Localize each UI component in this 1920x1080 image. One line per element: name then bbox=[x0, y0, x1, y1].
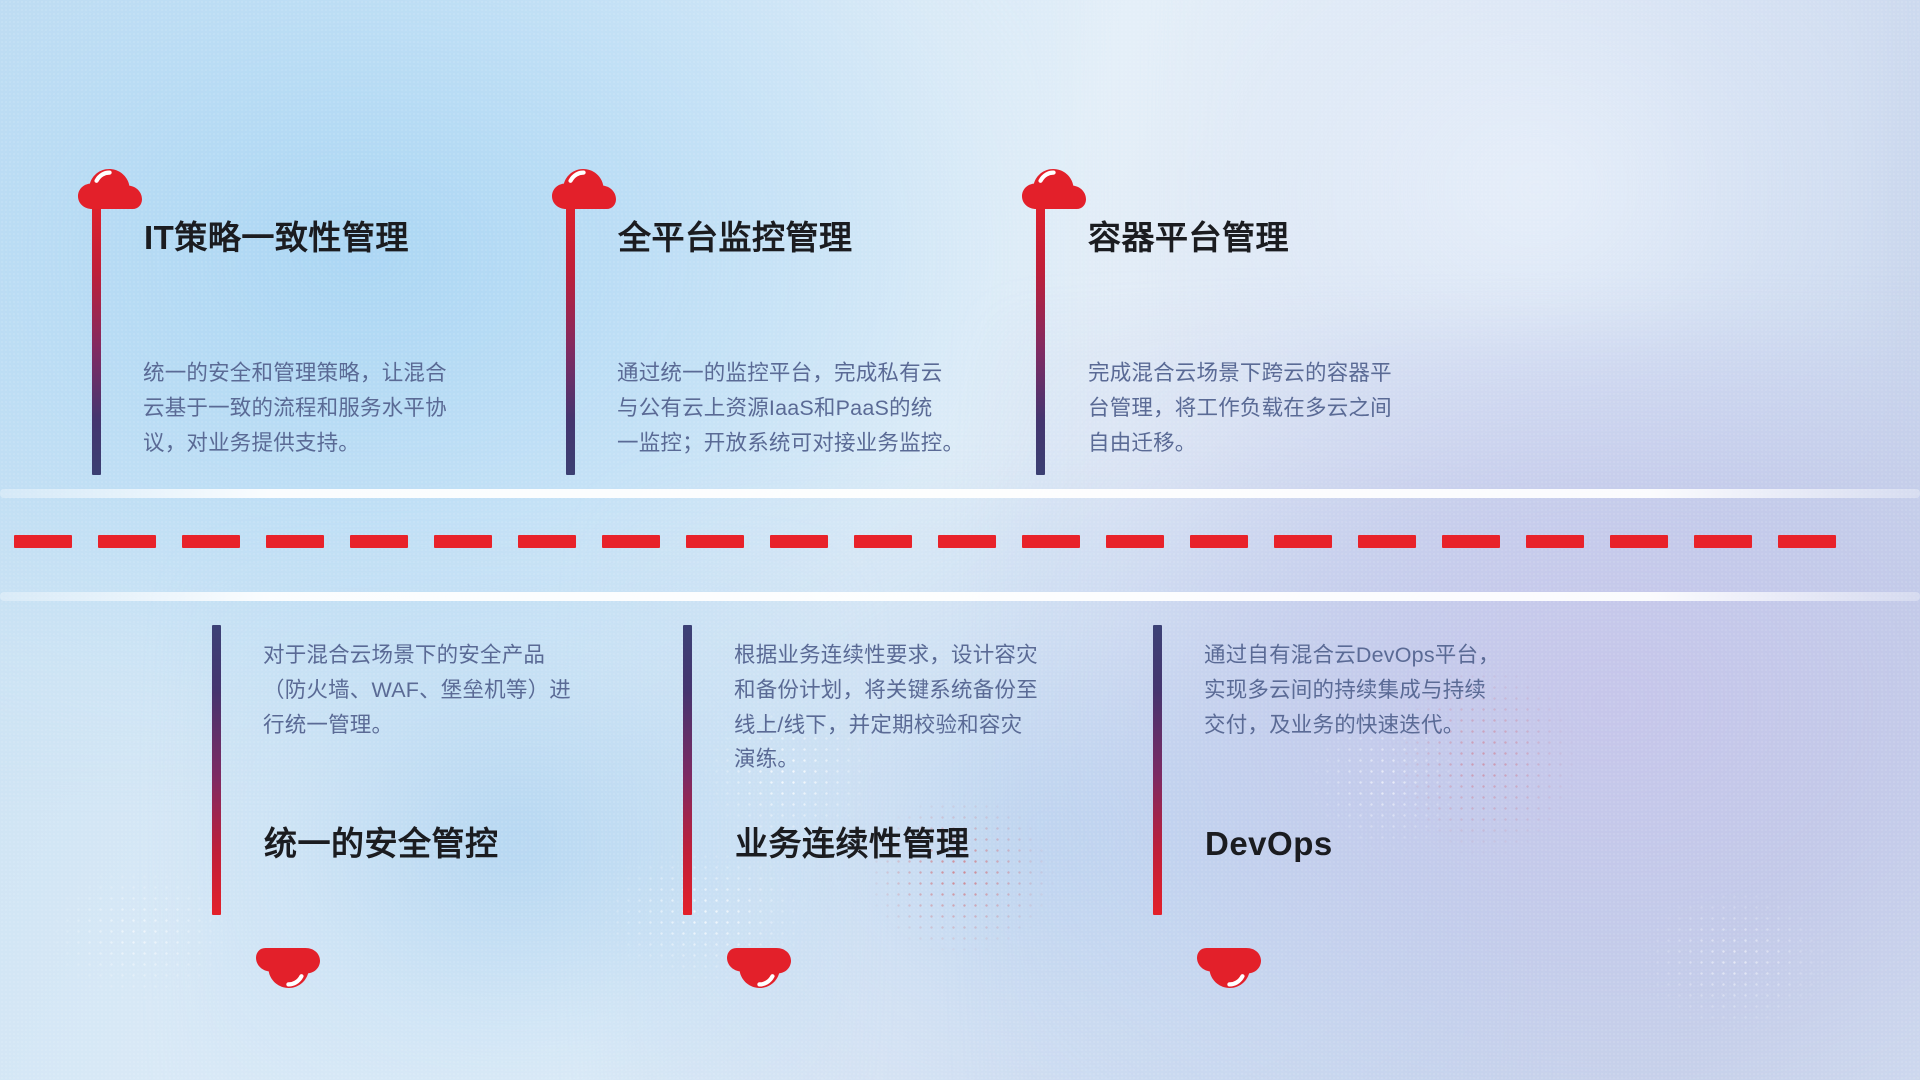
column-stem-unified-security-governance bbox=[212, 625, 221, 915]
divider-dash bbox=[266, 535, 324, 548]
column-stem-business-continuity-management bbox=[683, 625, 692, 915]
divider-dash bbox=[1442, 535, 1500, 548]
column-title-unified-security-governance: 统一的安全管控 bbox=[264, 826, 499, 862]
divider-dash bbox=[1610, 535, 1668, 548]
divider-dash bbox=[1022, 535, 1080, 548]
column-stem-container-platform-management bbox=[1036, 197, 1045, 475]
column-description-business-continuity-management: 根据业务连续性要求，设计容灾 和备份计划，将关键系统备份至 线上/线下，并定期校… bbox=[734, 638, 1114, 777]
divider-dash bbox=[938, 535, 996, 548]
column-description-it-policy-consistency: 统一的安全和管理策略，让混合 云基于一致的流程和服务水平协 议，对业务提供支持。 bbox=[143, 356, 523, 460]
particle-cluster-3 bbox=[860, 790, 1060, 960]
section-divider bbox=[0, 489, 1920, 601]
divider-dash bbox=[1274, 535, 1332, 548]
divider-rule-upper bbox=[0, 489, 1920, 498]
divider-dash bbox=[350, 535, 408, 548]
cloud-icon bbox=[1020, 163, 1088, 211]
divider-dash bbox=[518, 535, 576, 548]
divider-dash bbox=[1106, 535, 1164, 548]
divider-dash bbox=[14, 535, 72, 548]
column-title-it-policy-consistency: IT策略一致性管理 bbox=[144, 220, 409, 256]
column-description-container-platform-management: 完成混合云场景下跨云的容器平 台管理，将工作负载在多云之间 自由迁移。 bbox=[1088, 356, 1468, 460]
cloud-icon bbox=[1127, 898, 1195, 946]
divider-dash bbox=[182, 535, 240, 548]
cloud-icon bbox=[550, 163, 618, 211]
divider-dashed-line bbox=[0, 534, 1920, 548]
column-description-unified-security-governance: 对于混合云场景下的安全产品 （防火墙、WAF、堡垒机等）进 行统一管理。 bbox=[263, 638, 643, 742]
cloud-icon bbox=[186, 898, 254, 946]
divider-rule-lower bbox=[0, 592, 1920, 601]
divider-dash bbox=[770, 535, 828, 548]
column-description-devops: 通过自有混合云DevOps平台， 实现多云间的持续集成与持续 交付，及业务的快速… bbox=[1204, 638, 1584, 742]
divider-dash bbox=[686, 535, 744, 548]
column-stem-full-platform-monitoring bbox=[566, 197, 575, 475]
divider-dash bbox=[854, 535, 912, 548]
cloud-icon bbox=[76, 163, 144, 211]
divider-dash bbox=[602, 535, 660, 548]
divider-dash bbox=[98, 535, 156, 548]
divider-dash bbox=[434, 535, 492, 548]
column-title-full-platform-monitoring: 全平台监控管理 bbox=[618, 220, 853, 256]
column-stem-it-policy-consistency bbox=[92, 197, 101, 475]
divider-dash bbox=[1694, 535, 1752, 548]
column-description-full-platform-monitoring: 通过统一的监控平台，完成私有云 与公有云上资源IaaS和PaaS的统 一监控；开… bbox=[617, 356, 1017, 460]
divider-dash bbox=[1778, 535, 1836, 548]
divider-dash bbox=[1190, 535, 1248, 548]
column-stem-devops bbox=[1153, 625, 1162, 915]
particle-cluster-7 bbox=[1630, 880, 1840, 1040]
column-title-container-platform-management: 容器平台管理 bbox=[1088, 220, 1289, 256]
column-title-devops: DevOps bbox=[1205, 826, 1333, 862]
infographic-canvas: IT策略一致性管理统一的安全和管理策略，让混合 云基于一致的流程和服务水平协 议… bbox=[0, 0, 1920, 1080]
divider-dash bbox=[1526, 535, 1584, 548]
column-title-business-continuity-management: 业务连续性管理 bbox=[735, 826, 970, 862]
divider-dash bbox=[1358, 535, 1416, 548]
cloud-icon bbox=[657, 898, 725, 946]
